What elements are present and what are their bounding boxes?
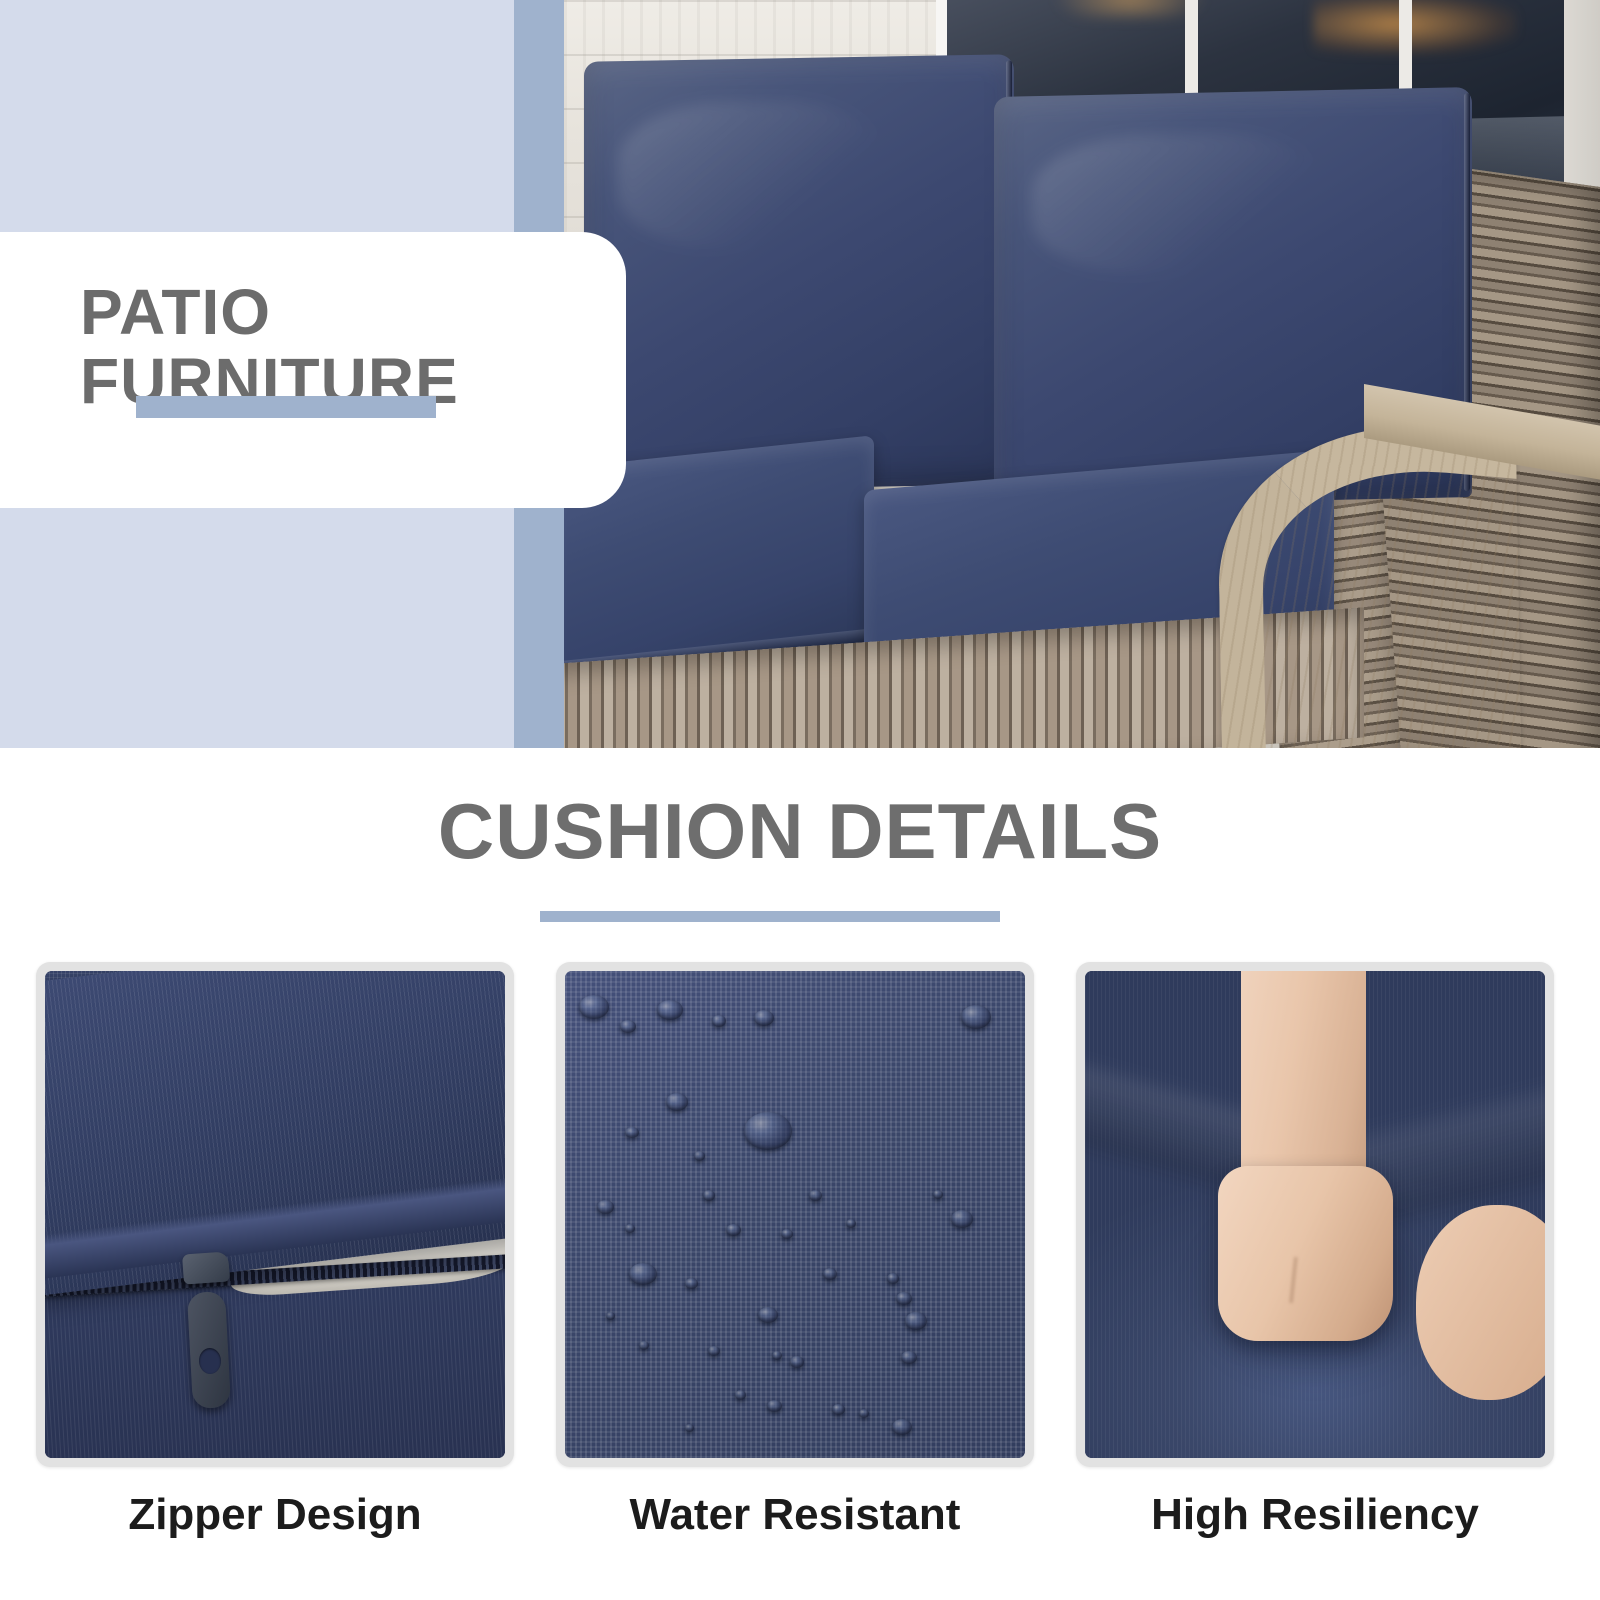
cushion-sheen [1032,131,1328,277]
back-cushion-left [584,54,1014,492]
water-droplet [767,1400,782,1412]
water-droplet [708,1346,720,1356]
cushion-sheen [618,99,885,250]
section-title-rule [540,911,1000,922]
detail-card-resiliency[interactable] [1076,962,1554,1467]
water-droplet [823,1268,837,1280]
water-droplet [892,1419,912,1435]
cushion-details-section: CUSHION DETAILS Zipper Design Water Resi… [0,748,1600,1600]
detail-card-zipper[interactable] [36,962,514,1467]
detail-card-water-resistant[interactable] [556,962,1034,1467]
water-droplet [685,1278,698,1289]
water-droplet [961,1005,991,1029]
water-droplet [735,1390,746,1400]
water-droplet [625,1127,639,1138]
glass-warm-reflection [1313,0,1516,55]
resiliency-image [1085,971,1545,1458]
water-droplet [809,1190,822,1201]
water-droplet [772,1351,782,1360]
hero-title-underline-accent [136,396,436,418]
water-droplet [639,1341,649,1350]
hero-title-card: PATIO FURNITURE [0,232,626,508]
section-title: CUSHION DETAILS [0,786,1600,877]
hand-crease [1289,1257,1297,1303]
detail-caption-resiliency: High Resiliency [1076,1490,1554,1540]
detail-caption-zipper: Zipper Design [36,1490,514,1540]
fist [1218,1166,1393,1341]
cushion-lower-panel [45,1266,505,1458]
water-droplet [597,1200,614,1214]
glass-warm-reflection-2 [1055,0,1204,18]
water-droplet [620,1020,636,1033]
water-droplet [790,1356,804,1368]
hero-title-line-1: PATIO [80,278,459,347]
water-droplet [712,1015,726,1027]
water-droplet [625,1224,635,1233]
water-droplet [951,1210,973,1228]
zipper-detail-image [45,971,505,1458]
water-droplet [666,1093,688,1111]
water-droplet [901,1351,917,1364]
water-droplet [846,1219,856,1228]
water-droplet [685,1424,694,1432]
hero-banner: PATIO FURNITURE [0,0,1600,748]
water-droplet [694,1151,705,1161]
water-droplet [887,1273,899,1284]
hero-product-photo [564,0,1600,748]
water-droplet [754,1010,774,1026]
water-resistant-image [565,971,1025,1458]
detail-caption-water-resistant: Water Resistant [556,1490,1034,1540]
zipper-slider [182,1252,230,1285]
